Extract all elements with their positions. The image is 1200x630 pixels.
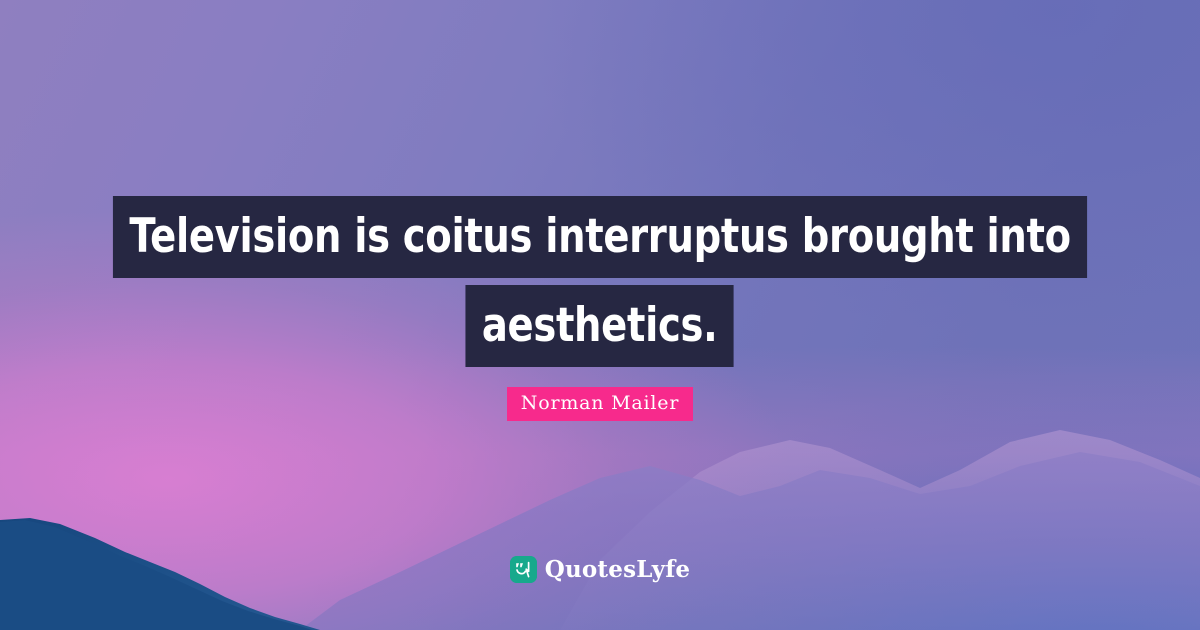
- quote-image-card: Television is coitus interruptus brought…: [0, 0, 1200, 630]
- brand-name-text: QuotesLyfe: [545, 558, 691, 581]
- quote-text-block: Television is coitus interruptus brought…: [0, 196, 1200, 367]
- quote-line-2-wrapper: aesthetics.: [0, 285, 1200, 367]
- brand-footer: QuotesLyfe: [0, 556, 1200, 583]
- quote-smiley-icon: [510, 556, 537, 583]
- author-name-badge: Norman Mailer: [507, 387, 693, 421]
- quote-line-1-wrapper: Television is coitus interruptus brought…: [0, 196, 1200, 278]
- quote-line-2: aesthetics.: [466, 285, 734, 367]
- author-attribution-row: Norman Mailer: [0, 387, 1200, 421]
- quote-line-1: Television is coitus interruptus brought…: [113, 196, 1087, 278]
